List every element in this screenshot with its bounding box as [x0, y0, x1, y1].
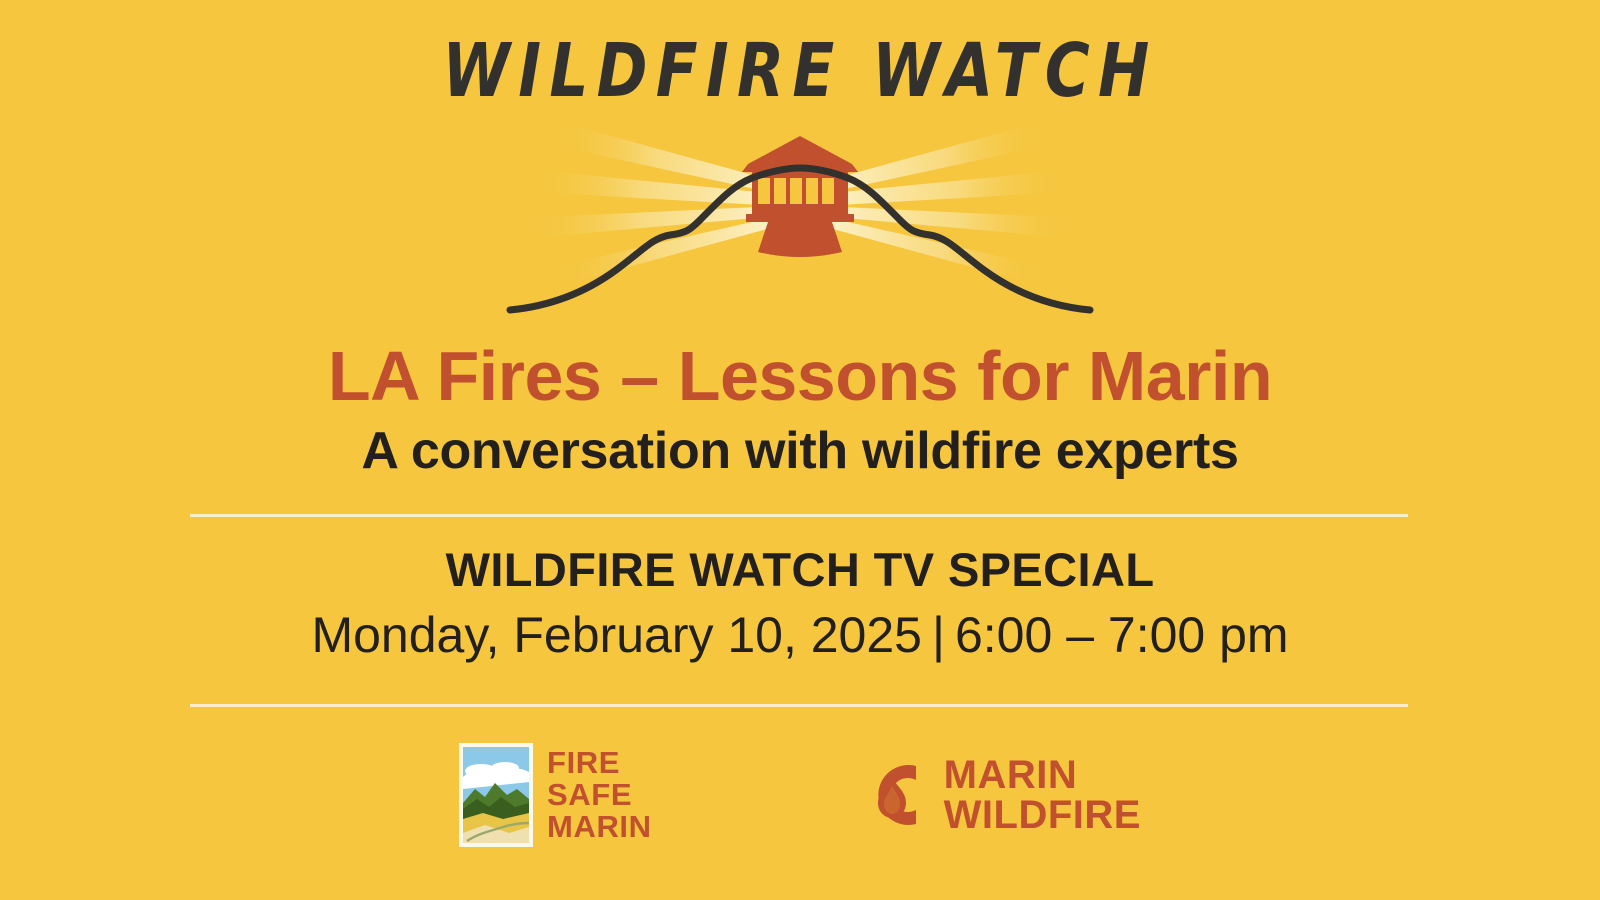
fire-safe-marin-wordmark: FIRE SAFE MARIN: [547, 747, 652, 843]
fsm-line-1: FIRE: [547, 747, 652, 779]
fsm-line-3: MARIN: [547, 811, 652, 843]
page-subtitle: A conversation with wildfire experts: [0, 424, 1600, 479]
flame-in-c-ring-icon: [852, 752, 930, 838]
datetime-separator: |: [922, 607, 955, 663]
brand-lockup: WILDFIRE WATCH: [0, 34, 1600, 324]
marin-wildfire-wordmark: MARIN WILDFIRE: [944, 755, 1141, 835]
page-title: LA Fires – Lessons for Marin: [0, 340, 1600, 413]
event-kicker: WILDFIRE WATCH TV SPECIAL: [0, 544, 1600, 596]
divider-bottom: [190, 704, 1408, 707]
fire-lookout-tower-icon: [500, 120, 1100, 320]
sponsor-logo-row: FIRE SAFE MARIN MARIN WILDFIRE: [0, 730, 1600, 860]
sponsor-fire-safe-marin: FIRE SAFE MARIN: [459, 743, 652, 847]
fsm-line-2: SAFE: [547, 779, 652, 811]
event-time: 6:00 – 7:00 pm: [955, 607, 1289, 663]
brand-wordmark: WILDFIRE WATCH: [64, 34, 1536, 108]
event-datetime: Monday, February 10, 2025|6:00 – 7:00 pm: [0, 608, 1600, 663]
sponsor-marin-wildfire: MARIN WILDFIRE: [852, 752, 1141, 838]
poster-canvas: WILDFIRE WATCH: [0, 0, 1600, 900]
mw-line-1: MARIN: [944, 755, 1141, 795]
divider-top: [190, 514, 1408, 517]
marin-hills-landscape-icon: [459, 743, 533, 847]
event-date: Monday, February 10, 2025: [311, 607, 922, 663]
mw-line-2: WILDFIRE: [944, 795, 1141, 835]
